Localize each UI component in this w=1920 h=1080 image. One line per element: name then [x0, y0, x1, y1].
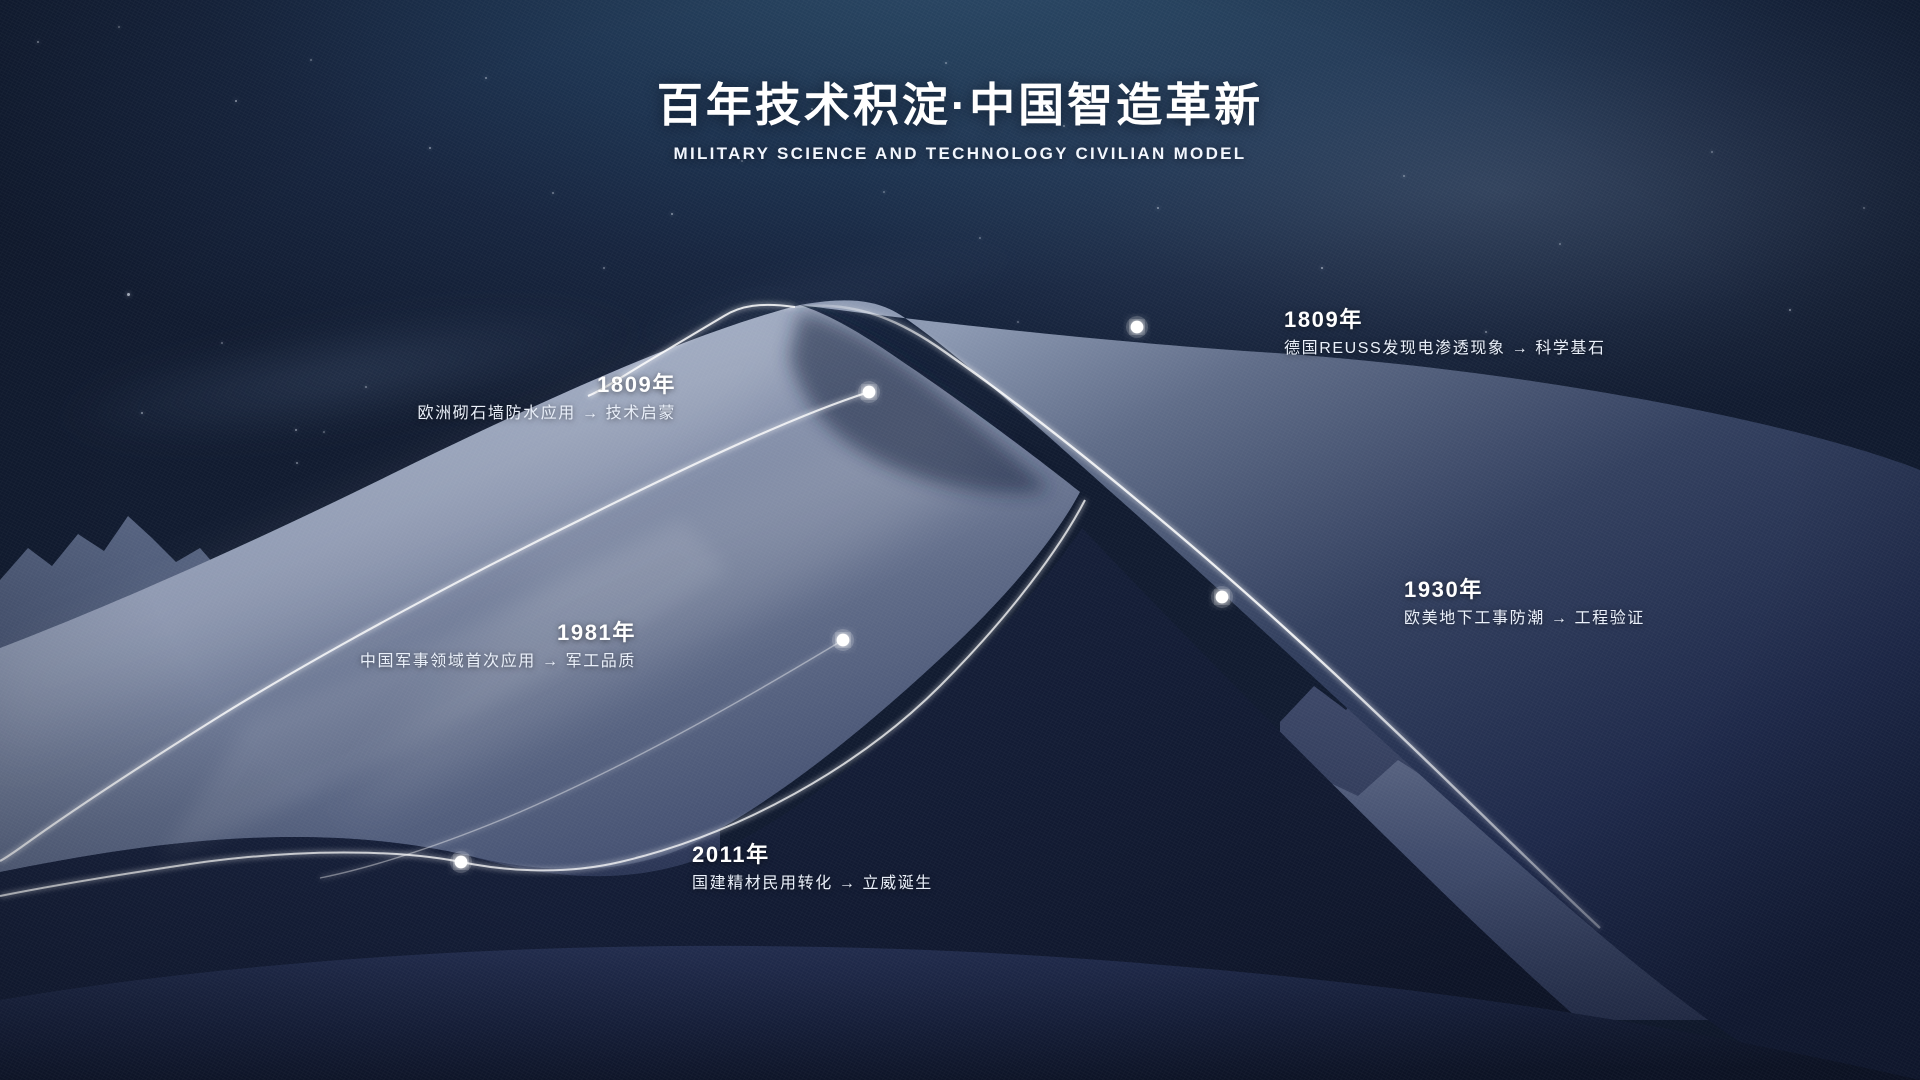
timeline-year: 2011年: [692, 842, 933, 867]
timeline-label-node-2011[interactable]: 2011年国建精材民用转化 → 立威诞生: [692, 842, 933, 895]
timeline-year: 1981年: [0, 620, 636, 645]
timeline-year: 1930年: [1404, 577, 1645, 602]
timeline-label-node-1809-reuss[interactable]: 1809年德国REUSS发现电渗透现象 → 科学基石: [1284, 307, 1606, 360]
timeline-description: 欧洲砌石墙防水应用 → 技术启蒙: [0, 404, 676, 425]
timeline-year: 1809年: [0, 372, 676, 397]
timeline-description: 欧美地下工事防潮 → 工程验证: [1404, 609, 1645, 630]
page-title: 百年技术积淀·中国智造革新: [0, 78, 1920, 133]
timeline-node-dot[interactable]: [455, 856, 468, 869]
timeline-node-dot[interactable]: [1216, 591, 1229, 604]
timeline-label-node-1930[interactable]: 1930年欧美地下工事防潮 → 工程验证: [1404, 577, 1645, 630]
timeline-description: 中国军事领域首次应用 → 军工品质: [0, 652, 636, 673]
timeline-description: 德国REUSS发现电渗透现象 → 科学基石: [1284, 339, 1606, 360]
timeline-description: 国建精材民用转化 → 立威诞生: [692, 874, 933, 895]
timeline-label-node-1809-europe[interactable]: 1809年欧洲砌石墙防水应用 → 技术启蒙: [0, 372, 676, 425]
timeline-label-node-1981[interactable]: 1981年中国军事领域首次应用 → 军工品质: [0, 620, 636, 673]
timeline-node-dot[interactable]: [863, 386, 876, 399]
timeline-node-dot[interactable]: [1131, 321, 1144, 334]
page-subtitle: MILITARY SCIENCE AND TECHNOLOGY CIVILIAN…: [0, 144, 1920, 164]
hero-header: 百年技术积淀·中国智造革新 MILITARY SCIENCE AND TECHN…: [0, 78, 1920, 164]
timeline-node-dot[interactable]: [837, 634, 850, 647]
timeline-year: 1809年: [1284, 307, 1606, 332]
